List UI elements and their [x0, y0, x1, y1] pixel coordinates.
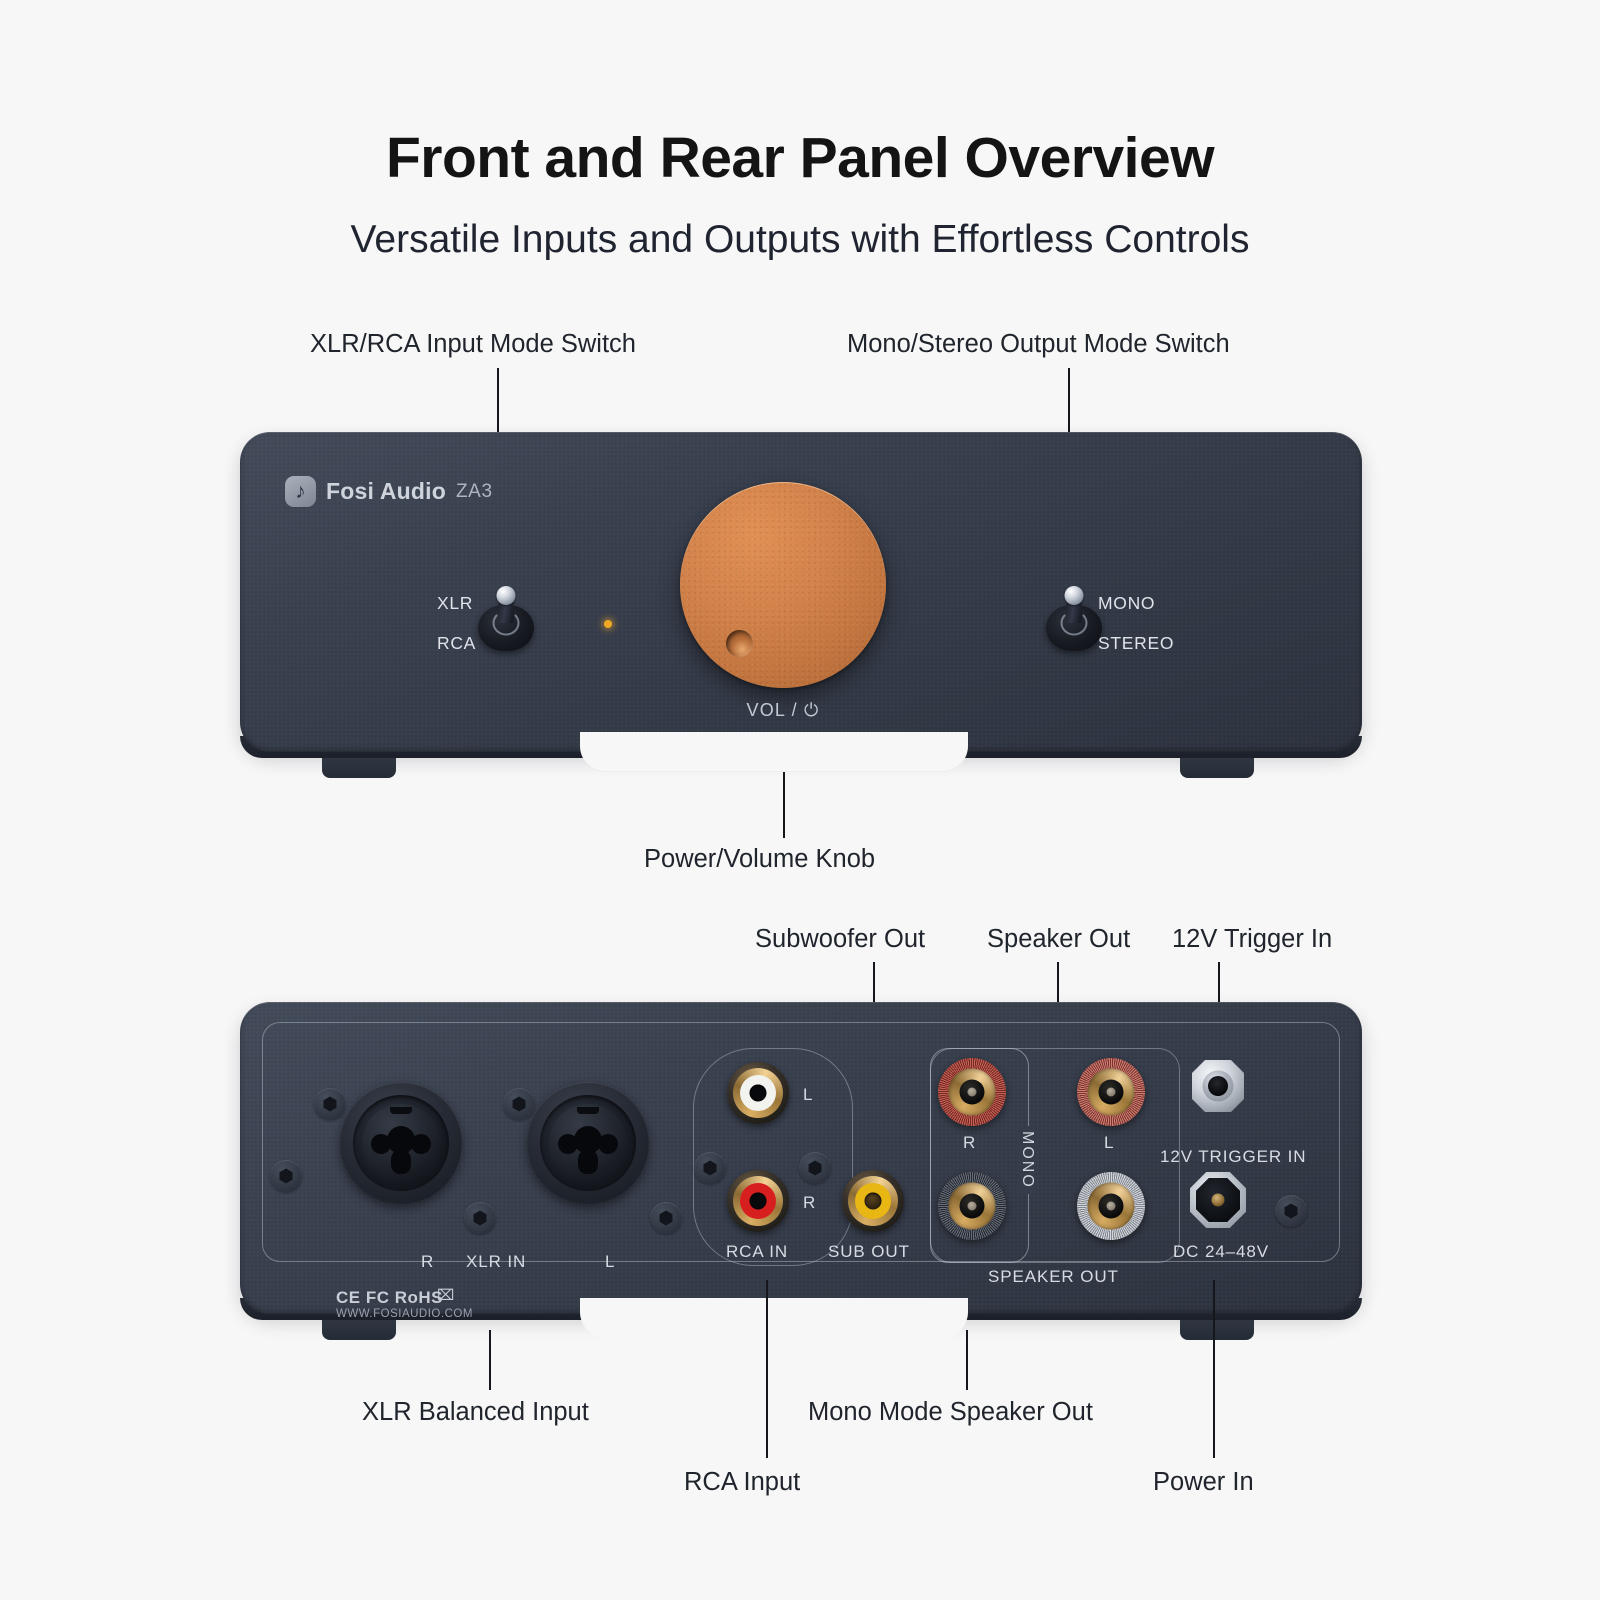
- xlr-face-icon: [549, 1104, 627, 1182]
- callout-mono-stereo-output-mode-switch: Mono/Stereo Output Mode Switch: [847, 330, 1230, 359]
- callout-12v-trigger-in: 12V Trigger In: [1172, 925, 1332, 954]
- leader-line-power-in: [1213, 1280, 1215, 1458]
- leader-line-xlr-balanced-input: [489, 1330, 491, 1390]
- rca-hole: [865, 1193, 882, 1210]
- trigger-in-jack[interactable]: [1192, 1060, 1244, 1112]
- knob-texture: [680, 482, 886, 688]
- port-label-rca-l: L: [803, 1085, 813, 1105]
- callout-speaker-out: Speaker Out: [987, 925, 1130, 954]
- hex-screw: [799, 1152, 831, 1184]
- xlr-center-bore: [574, 1126, 602, 1154]
- hex-screw: [650, 1202, 682, 1234]
- xlr-jack-right[interactable]: [340, 1082, 462, 1204]
- callout-subwoofer-out: Subwoofer Out: [755, 925, 925, 954]
- callout-xlr-balanced-input: XLR Balanced Input: [362, 1398, 589, 1427]
- port-label-rca-in: RCA IN: [726, 1242, 788, 1262]
- port-label-sub-out: SUB OUT: [828, 1242, 910, 1262]
- port-label-dc-input: DC 24–48V: [1173, 1242, 1269, 1262]
- certification-marks: CE FC RoHS: [336, 1288, 443, 1308]
- port-label-speaker-r: R: [963, 1133, 976, 1153]
- power-volume-knob[interactable]: [680, 482, 886, 688]
- power-led-indicator: [604, 620, 612, 628]
- website-url: WWW.FOSIAUDIO.COM: [336, 1308, 473, 1320]
- port-label-speaker-l: L: [1104, 1133, 1114, 1153]
- speaker-post-left-positive[interactable]: [1077, 1058, 1145, 1126]
- xlr-notch-icon: [577, 1107, 599, 1114]
- rear-foot-right: [1180, 1318, 1254, 1340]
- port-label-xlr-r: R: [421, 1252, 434, 1272]
- rear-panel-notch: [580, 1298, 968, 1338]
- front-foot-left: [322, 756, 396, 778]
- dc-jack-center-pin: [1212, 1194, 1225, 1207]
- xlr-notch-icon: [390, 1107, 412, 1114]
- leader-line-rca-input: [766, 1280, 768, 1458]
- page-subtitle: Versatile Inputs and Outputs with Effort…: [0, 218, 1600, 262]
- xlr-face-icon: [362, 1104, 440, 1182]
- callout-mono-mode-speaker-out: Mono Mode Speaker Out: [808, 1398, 1093, 1427]
- fosi-logo-icon: ♪: [285, 476, 316, 507]
- hex-screw: [1275, 1195, 1307, 1227]
- mono-label: MONO: [1018, 1126, 1036, 1194]
- sub-out-jack[interactable]: [842, 1170, 904, 1232]
- callout-xlr-rca-input-mode-switch: XLR/RCA Input Mode Switch: [310, 330, 636, 359]
- product-overview-page: Front and Rear Panel Overview Versatile …: [0, 0, 1600, 1600]
- hex-screw: [314, 1088, 346, 1120]
- hex-screw: [503, 1088, 535, 1120]
- rca-hole: [750, 1193, 767, 1210]
- brand-name: Fosi Audio: [326, 478, 446, 505]
- xlr-jack-left[interactable]: [527, 1082, 649, 1204]
- trigger-hole: [1208, 1076, 1228, 1096]
- mono-stereo-toggle-switch[interactable]: [1046, 605, 1102, 651]
- xlr-center-bore: [387, 1126, 415, 1154]
- xlr-rca-toggle-switch[interactable]: [478, 605, 534, 651]
- callout-rca-input: RCA Input: [684, 1468, 800, 1497]
- toggle-tip-icon: [1065, 586, 1084, 605]
- port-label-xlr-l: L: [605, 1252, 615, 1272]
- brand-model: ZA3: [456, 481, 493, 503]
- rca-jack-left[interactable]: [727, 1062, 789, 1124]
- xlr-ring-icon: [540, 1095, 636, 1191]
- callout-power-in: Power In: [1153, 1468, 1254, 1497]
- speaker-post-left-negative[interactable]: [1077, 1172, 1145, 1240]
- post-pin: [968, 1088, 977, 1097]
- hex-screw: [694, 1152, 726, 1184]
- weee-bin-icon: ⌧: [437, 1286, 454, 1304]
- speaker-post-right-negative[interactable]: [938, 1172, 1006, 1240]
- post-pin: [968, 1202, 977, 1211]
- rca-hole: [750, 1085, 767, 1102]
- switch-label-mono: MONO: [1098, 593, 1155, 614]
- front-panel-notch: [580, 732, 968, 772]
- brand-block: ♪ Fosi Audio ZA3: [285, 476, 493, 507]
- post-pin: [1107, 1088, 1116, 1097]
- port-label-speaker-out: SPEAKER OUT: [988, 1267, 1119, 1287]
- hex-screw: [270, 1160, 302, 1192]
- knob-indicator-dimple: [726, 630, 753, 657]
- dc-power-jack[interactable]: [1190, 1172, 1246, 1228]
- callout-power-volume-knob: Power/Volume Knob: [644, 845, 875, 874]
- xlr-ring-icon: [353, 1095, 449, 1191]
- volume-knob-label: VOL / ⏻: [680, 700, 886, 721]
- post-pin: [1107, 1202, 1116, 1211]
- rear-foot-left: [322, 1318, 396, 1340]
- toggle-tip-icon: [497, 586, 516, 605]
- hex-screw: [464, 1202, 496, 1234]
- switch-label-stereo: STEREO: [1098, 633, 1174, 654]
- speaker-post-right-positive[interactable]: [938, 1058, 1006, 1126]
- port-label-rca-r: R: [803, 1193, 816, 1213]
- switch-label-rca: RCA: [437, 633, 476, 654]
- leader-line-mono-mode-speaker-out: [966, 1330, 968, 1390]
- port-label-12v-trigger-in: 12V TRIGGER IN: [1160, 1147, 1306, 1167]
- page-title: Front and Rear Panel Overview: [0, 125, 1600, 191]
- port-label-xlr-in: XLR IN: [466, 1252, 526, 1272]
- front-foot-right: [1180, 756, 1254, 778]
- rca-jack-right[interactable]: [727, 1170, 789, 1232]
- switch-label-xlr: XLR: [437, 593, 473, 614]
